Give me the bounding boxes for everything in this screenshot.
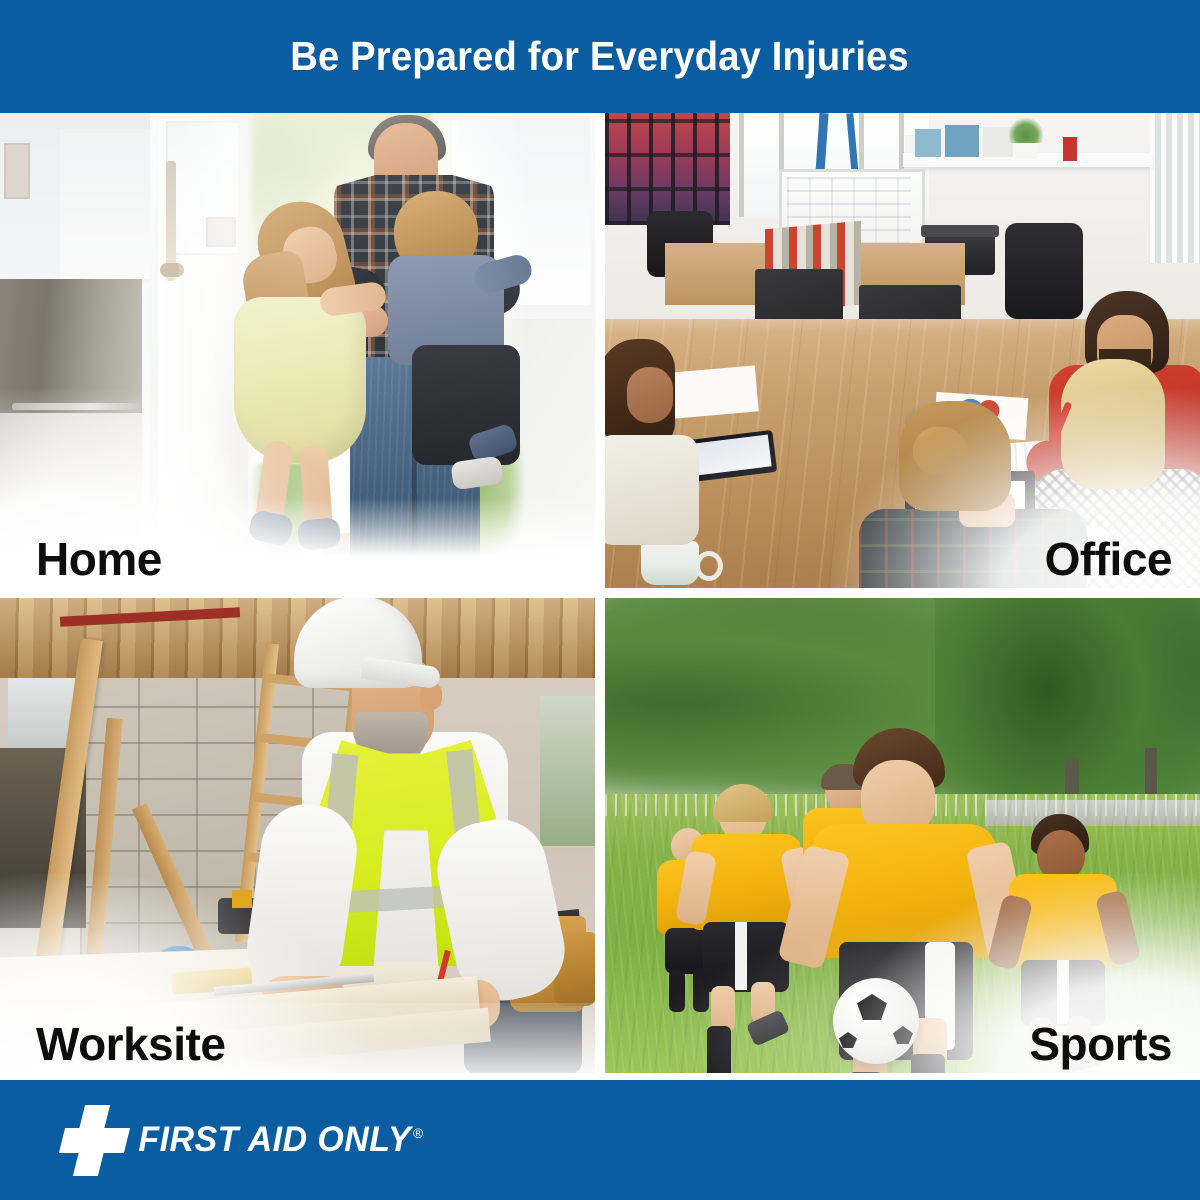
poster-root: Be Prepared for Everyday Injuries xyxy=(0,0,1200,1200)
panel-label-worksite: Worksite xyxy=(36,1021,225,1067)
brand-logo[interactable]: FIRST AID ONLY® xyxy=(52,1103,428,1177)
registered-trademark-icon: ® xyxy=(413,1125,424,1141)
panel-label-office: Office xyxy=(1045,536,1172,582)
panel-label-home: Home xyxy=(36,536,162,582)
panel-worksite[interactable]: Worksite xyxy=(0,598,595,1073)
panel-home[interactable]: Home xyxy=(0,113,595,588)
brand-name-text: FIRST AID ONLY xyxy=(138,1120,411,1159)
figure-boy xyxy=(378,191,554,511)
image-grid: Home xyxy=(0,113,1200,1080)
desk-plant xyxy=(1009,117,1043,143)
header-banner: Be Prepared for Everyday Injuries xyxy=(0,0,1200,113)
panel-label-sports: Sports xyxy=(1029,1021,1172,1067)
wall-picture-frame xyxy=(4,143,30,199)
page-title: Be Prepared for Everyday Injuries xyxy=(291,33,910,80)
brand-name: FIRST AID ONLY® xyxy=(138,1120,423,1160)
panel-office[interactable]: Office xyxy=(605,113,1200,588)
coffee-mug xyxy=(641,541,699,585)
first-aid-cross-icon xyxy=(52,1103,126,1177)
figure-office-worker-1 xyxy=(605,339,695,529)
panel-sports[interactable]: Sports xyxy=(605,598,1200,1073)
footer-bar: FIRST AID ONLY® xyxy=(0,1080,1200,1200)
